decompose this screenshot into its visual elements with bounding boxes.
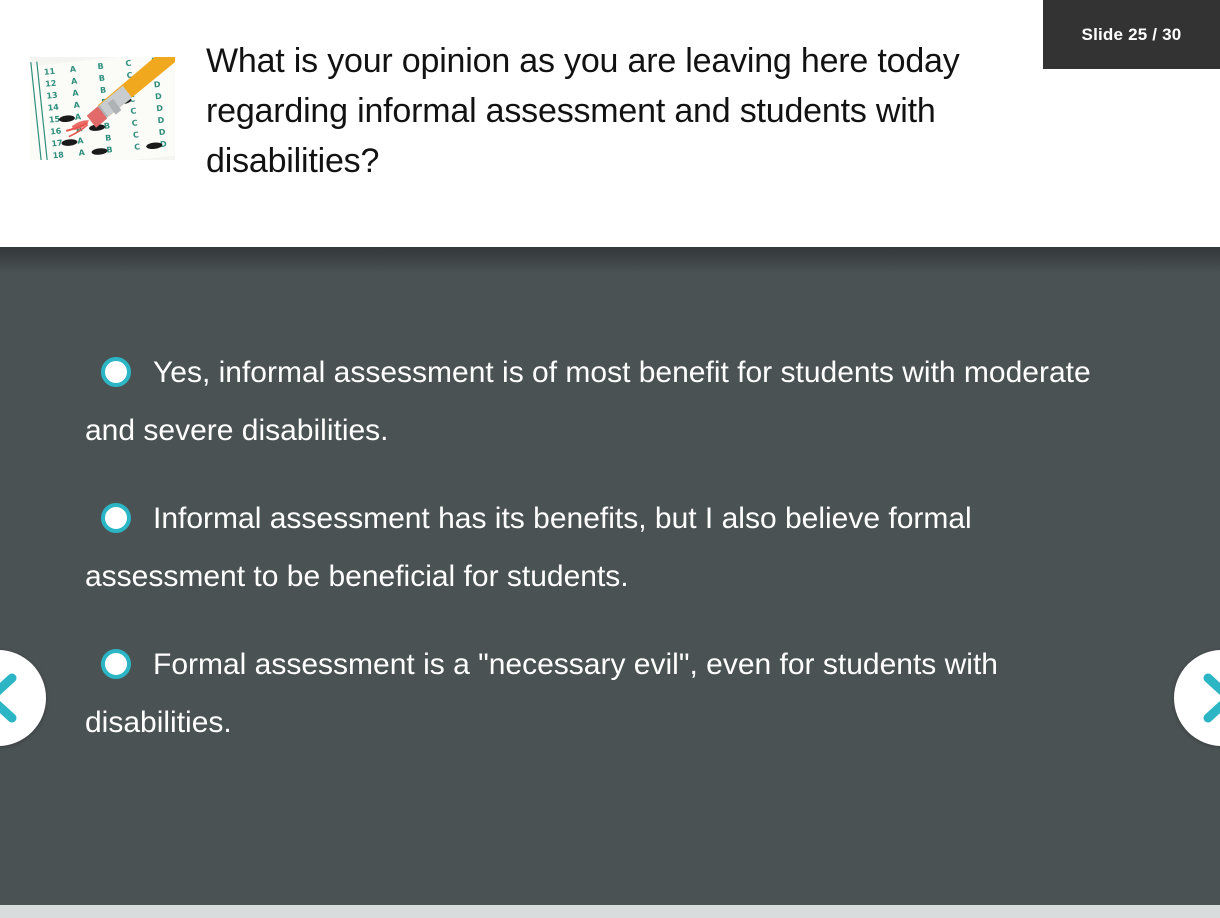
svg-text:11: 11 bbox=[43, 67, 55, 77]
poll-options-list: Yes, informal assessment is of most bene… bbox=[0, 247, 1220, 752]
poll-option-2[interactable]: Informal assessment has its benefits, bu… bbox=[85, 490, 1130, 606]
svg-text:D: D bbox=[155, 92, 163, 102]
svg-text:D: D bbox=[156, 104, 164, 114]
svg-text:18: 18 bbox=[52, 150, 64, 160]
scantron-answer-sheet-icon: 111213 141516 1718 AAA AAA AA BBB BBB BB bbox=[30, 57, 175, 160]
svg-text:C: C bbox=[133, 130, 140, 140]
svg-text:C: C bbox=[134, 142, 141, 152]
footer-strip bbox=[0, 905, 1220, 918]
svg-text:B: B bbox=[100, 85, 107, 95]
chevron-left-icon bbox=[0, 650, 46, 746]
poll-body: Yes, informal assessment is of most bene… bbox=[0, 247, 1220, 905]
svg-text:C: C bbox=[131, 118, 138, 128]
poll-option-label: Formal assessment is a "necessary evil",… bbox=[85, 648, 998, 739]
svg-text:D: D bbox=[153, 80, 161, 90]
previous-slide-button[interactable] bbox=[0, 650, 46, 746]
svg-text:D: D bbox=[158, 127, 166, 137]
slide-counter-badge: Slide 25 / 30 bbox=[1043, 0, 1220, 69]
poll-option-label: Yes, informal assessment is of most bene… bbox=[85, 356, 1091, 447]
svg-text:14: 14 bbox=[47, 102, 59, 112]
svg-text:D: D bbox=[157, 116, 165, 126]
slide-header: 111213 141516 1718 AAA AAA AA BBB BBB BB bbox=[0, 0, 1220, 247]
svg-text:B: B bbox=[97, 62, 104, 72]
poll-option-label: Informal assessment has its benefits, bu… bbox=[85, 502, 972, 593]
svg-text:13: 13 bbox=[46, 91, 58, 101]
radio-button-icon[interactable] bbox=[101, 357, 131, 387]
poll-slide: 111213 141516 1718 AAA AAA AA BBB BBB BB bbox=[0, 0, 1220, 918]
svg-text:17: 17 bbox=[51, 138, 63, 148]
radio-button-icon[interactable] bbox=[101, 503, 131, 533]
svg-text:C: C bbox=[130, 106, 137, 116]
radio-button-icon[interactable] bbox=[101, 649, 131, 679]
svg-text:B: B bbox=[105, 133, 112, 143]
chevron-right-icon bbox=[1174, 650, 1220, 746]
poll-option-3[interactable]: Formal assessment is a "necessary evil",… bbox=[85, 636, 1130, 752]
svg-text:16: 16 bbox=[50, 126, 62, 136]
svg-text:C: C bbox=[125, 59, 132, 69]
next-slide-button[interactable] bbox=[1174, 650, 1220, 746]
page-title: What is your opinion as you are leaving … bbox=[206, 36, 1086, 186]
svg-text:B: B bbox=[98, 74, 105, 84]
poll-option-1[interactable]: Yes, informal assessment is of most bene… bbox=[85, 344, 1130, 460]
svg-text:12: 12 bbox=[45, 79, 57, 89]
